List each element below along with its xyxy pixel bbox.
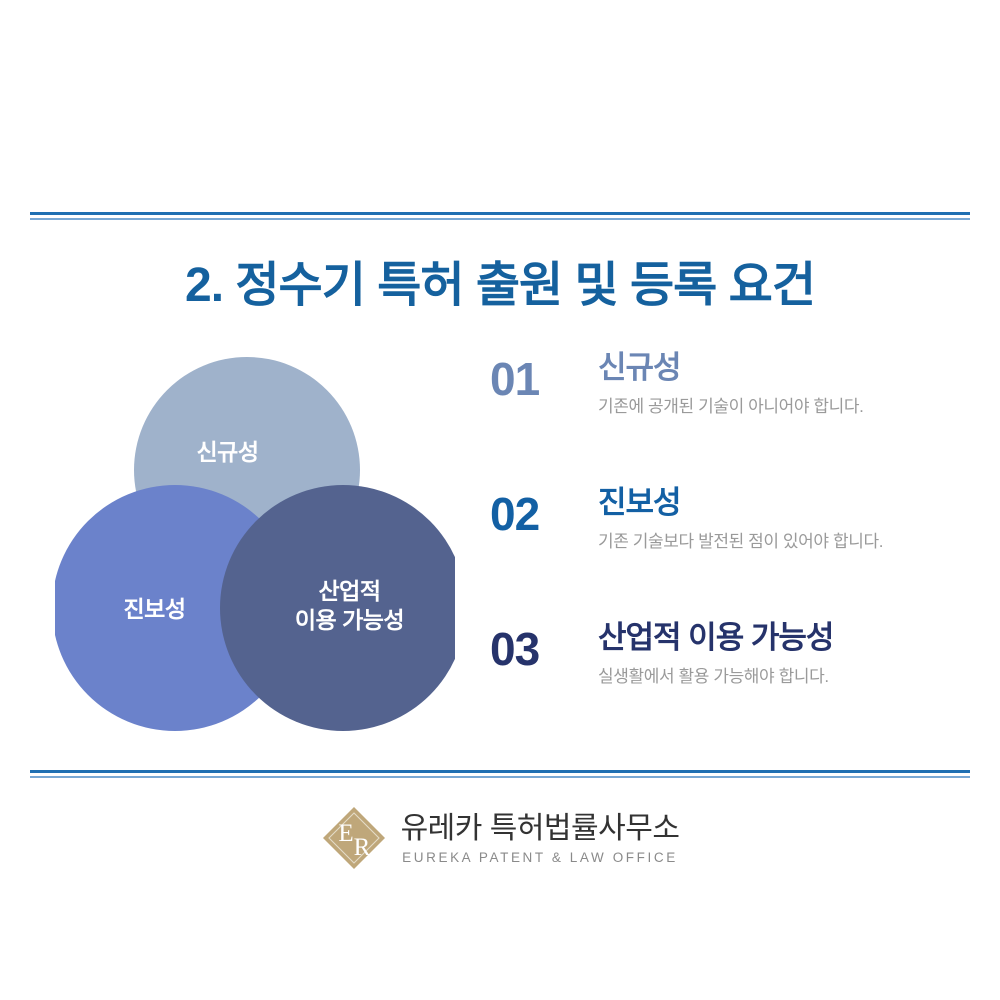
- monogram-letter-e: E: [338, 820, 353, 847]
- venn-svg: [55, 355, 455, 735]
- requirement-item-02: 02 진보성 기존 기술보다 발전된 점이 있어야 합니다.: [490, 485, 970, 620]
- divider-top-thick-line: [30, 212, 970, 215]
- requirement-item-03: 03 산업적 이용 가능성 실생활에서 활용 가능해야 합니다.: [490, 620, 970, 755]
- requirements-list: 01 신규성 기존에 공개된 기술이 아니어야 합니다. 02 진보성 기존 기…: [490, 350, 970, 755]
- divider-bottom-thick-line: [30, 770, 970, 773]
- eureka-diamond-logo-icon: E R: [321, 805, 387, 871]
- divider-bottom: [30, 770, 970, 779]
- requirement-body-01: 신규성 기존에 공개된 기술이 아니어야 합니다.: [598, 350, 968, 417]
- requirement-description-02: 기존 기술보다 발전된 점이 있어야 합니다.: [598, 527, 968, 552]
- divider-top: [30, 212, 970, 221]
- requirement-title-02: 진보성: [598, 485, 968, 522]
- venn-label-industrial-line2: 이용 가능성: [295, 607, 404, 633]
- requirement-description-01: 기존에 공개된 기술이 아니어야 합니다.: [598, 392, 968, 417]
- venn-label-industrial-line1: 산업적: [319, 578, 381, 604]
- page-title: 2. 정수기 특허 출원 및 등록 요건: [0, 245, 1000, 315]
- brand-name-korean: 유레카 특허법률사무소: [401, 812, 680, 845]
- requirement-number-02: 02: [490, 491, 585, 537]
- footer-brand: E R 유레카 특허법률사무소 EUREKA PATENT & LAW OFFI…: [0, 805, 1000, 871]
- brand-text-block: 유레카 특허법률사무소 EUREKA PATENT & LAW OFFICE: [401, 812, 680, 865]
- brand-name-english: EUREKA PATENT & LAW OFFICE: [401, 850, 680, 865]
- venn-label-inventive-step: 진보성: [92, 595, 217, 624]
- divider-top-thin-line: [30, 218, 970, 220]
- slide-canvas: 2. 정수기 특허 출원 및 등록 요건 신규성 진보성 산업적 이용 가능성 …: [0, 0, 1000, 1000]
- requirement-title-01: 신규성: [598, 350, 968, 387]
- venn-diagram: 신규성 진보성 산업적 이용 가능성: [55, 355, 455, 735]
- requirement-body-02: 진보성 기존 기술보다 발전된 점이 있어야 합니다.: [598, 485, 968, 552]
- requirement-number-03: 03: [490, 626, 585, 672]
- requirement-body-03: 산업적 이용 가능성 실생활에서 활용 가능해야 합니다.: [598, 620, 968, 687]
- requirement-title-03: 산업적 이용 가능성: [598, 620, 968, 657]
- requirement-number-01: 01: [490, 356, 585, 402]
- venn-label-industrial-applicability: 산업적 이용 가능성: [267, 577, 432, 634]
- venn-label-novelty: 신규성: [165, 438, 290, 467]
- divider-bottom-thin-line: [30, 776, 970, 778]
- requirement-description-03: 실생활에서 활용 가능해야 합니다.: [598, 662, 968, 687]
- monogram-letter-r: R: [353, 834, 370, 861]
- requirement-item-01: 01 신규성 기존에 공개된 기술이 아니어야 합니다.: [490, 350, 970, 485]
